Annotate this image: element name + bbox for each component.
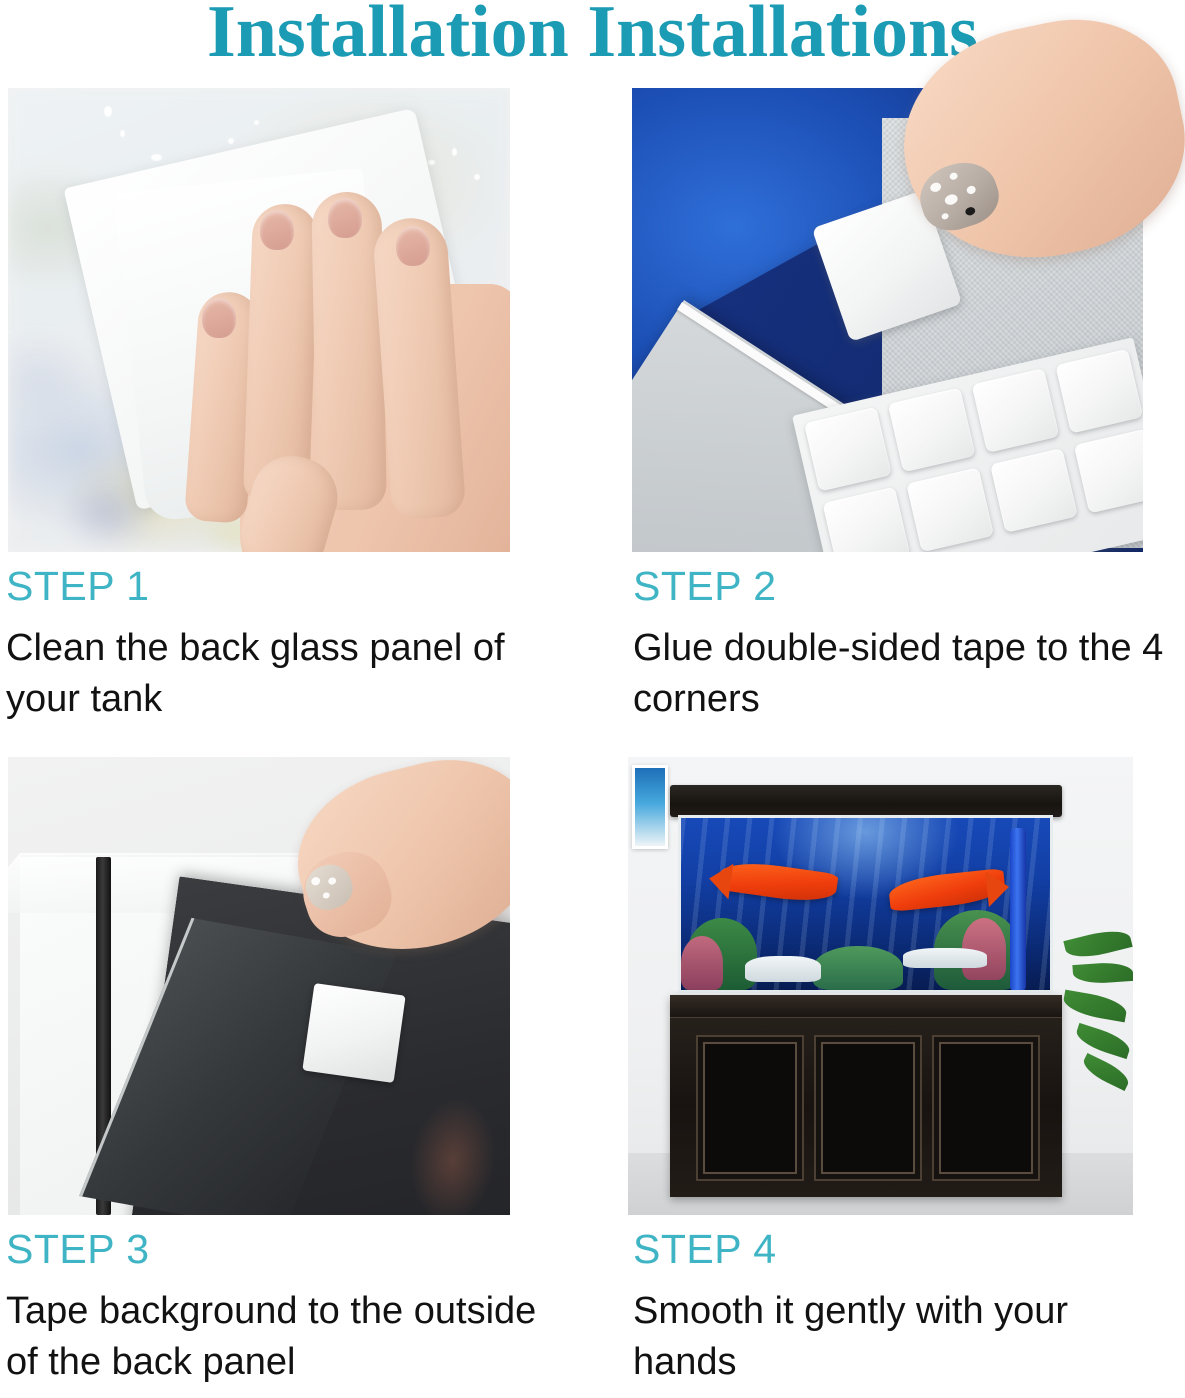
coral-left-pink	[681, 936, 723, 990]
adhesive-pad-on-poster	[302, 983, 405, 1083]
step-1-label: STEP 1	[6, 566, 566, 607]
step-4-caption: STEP 4 Smooth it gently with your hands	[633, 1229, 1178, 1387]
sand-rock-left	[745, 956, 821, 982]
step-3-label: STEP 3	[6, 1229, 566, 1270]
step-2-label: STEP 2	[633, 566, 1178, 607]
step-4-text: Smooth it gently with your hands	[633, 1286, 1178, 1387]
hand-fingers	[186, 186, 510, 552]
step-1-text: Clean the back glass panel of your tank	[6, 623, 566, 724]
house-plant	[1061, 933, 1133, 1097]
coral-center	[813, 946, 903, 990]
stand-top-trim	[670, 995, 1062, 1018]
step-4-photo	[628, 757, 1133, 1215]
step-4-image-cell	[628, 757, 1133, 1215]
step-2-photo	[632, 88, 1143, 552]
step-3-caption: STEP 3 Tape background to the outside of…	[6, 1229, 566, 1387]
step-1-photo	[8, 88, 510, 552]
step-4-label: STEP 4	[633, 1229, 1178, 1270]
aquarium-hood	[670, 785, 1062, 817]
step-3-text: Tape background to the outside of the ba…	[6, 1286, 566, 1387]
arowana-fish-right-tail	[985, 869, 1011, 907]
step-2-image-cell	[632, 88, 1143, 552]
step-3-photo	[8, 757, 510, 1215]
aquarium-tank	[678, 815, 1053, 993]
step-3-image-cell	[8, 757, 510, 1215]
cabinet-door-center[interactable]	[814, 1035, 922, 1181]
step-1-image-cell	[8, 88, 510, 552]
wall-picture-frame	[632, 765, 668, 849]
step-2-caption: STEP 2 Glue double-sided tape to the 4 c…	[633, 566, 1178, 724]
blue-filter-pipe	[1010, 828, 1026, 992]
step-1-caption: STEP 1 Clean the back glass panel of you…	[6, 566, 566, 724]
cabinet-door-right[interactable]	[932, 1035, 1040, 1181]
aquarium-stand	[670, 995, 1062, 1197]
step-2-text: Glue double-sided tape to the 4 corners	[633, 623, 1178, 724]
sand-rock-right	[903, 948, 987, 968]
cabinet-door-left[interactable]	[696, 1035, 804, 1181]
